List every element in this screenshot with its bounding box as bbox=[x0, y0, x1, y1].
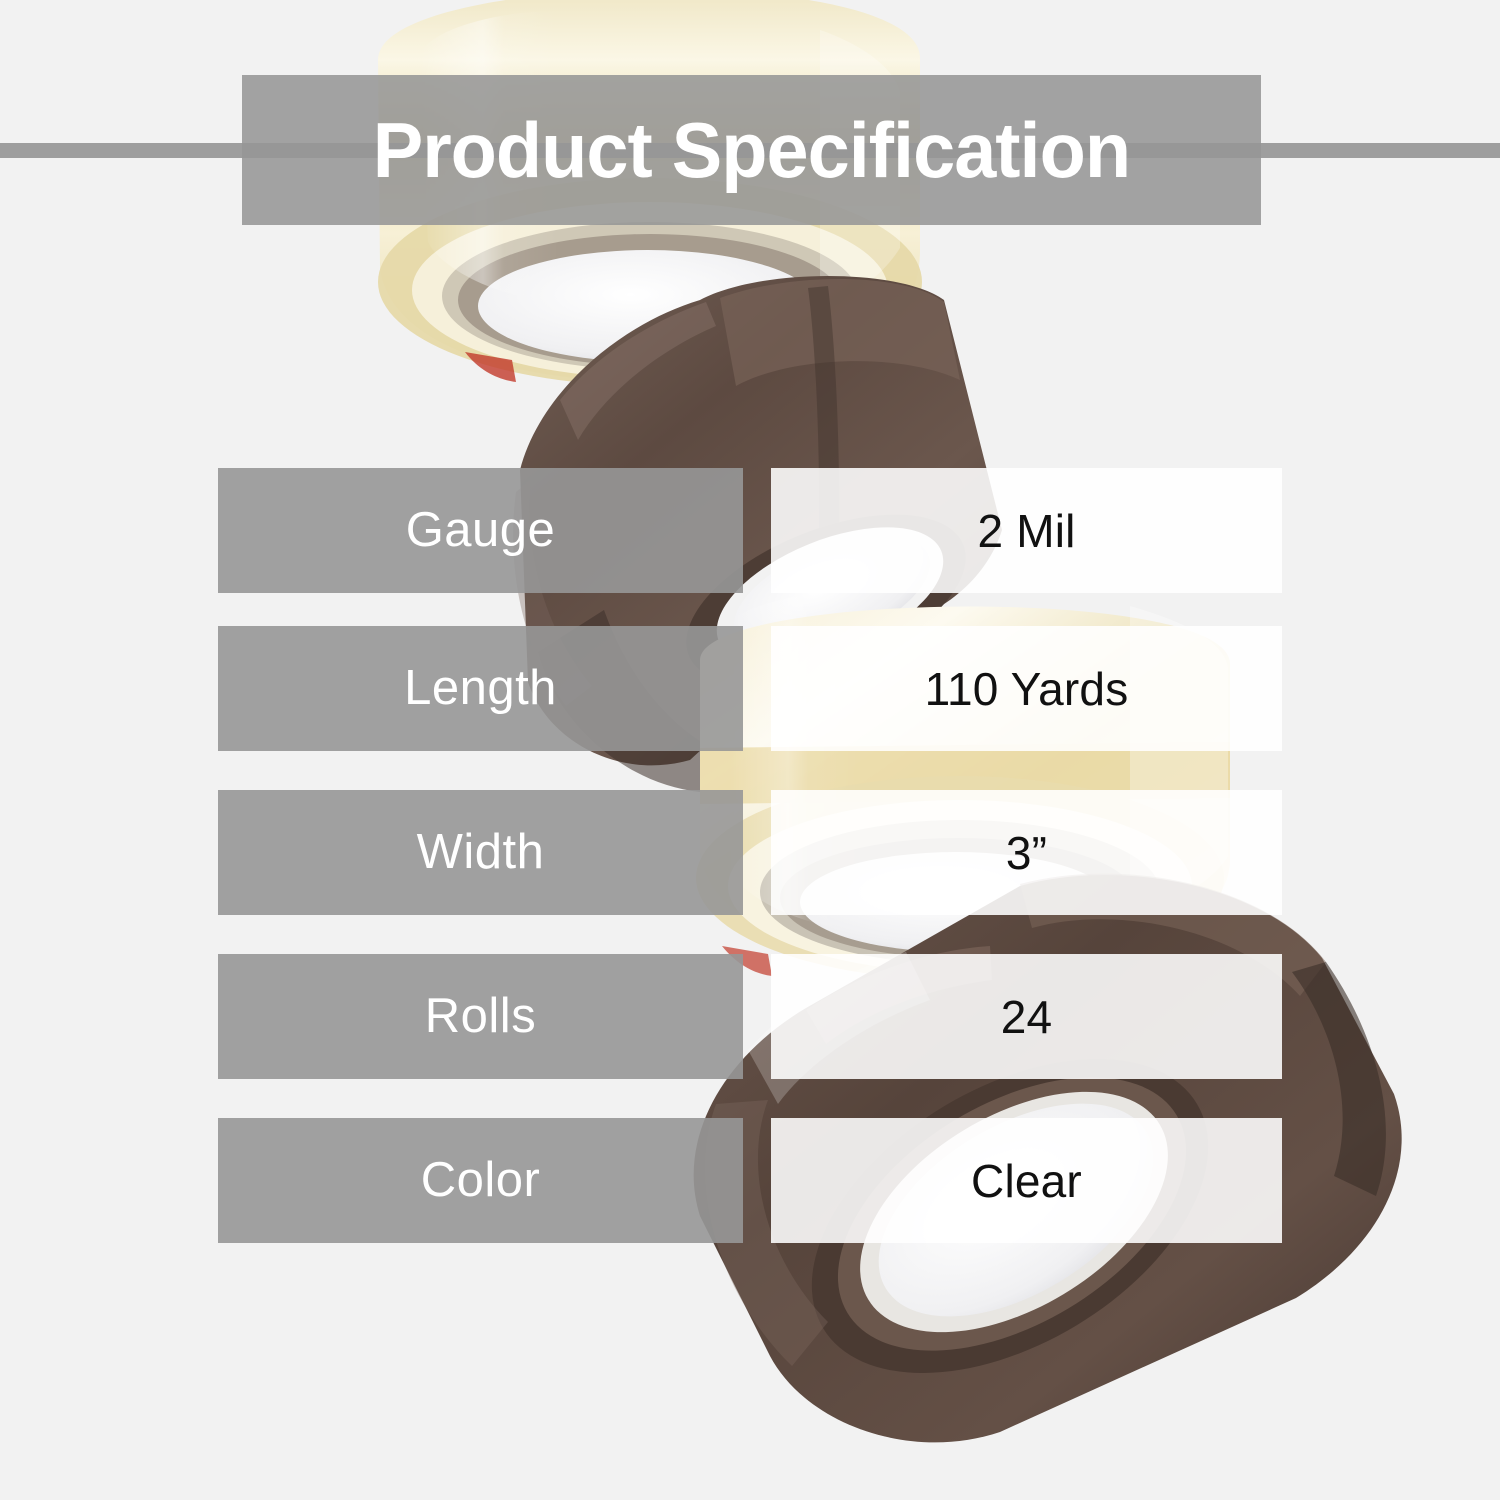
table-row: Rolls 24 bbox=[0, 954, 1500, 1079]
spec-label-text: Length bbox=[404, 664, 557, 713]
spec-label-cell-length: Length bbox=[218, 626, 743, 751]
spec-label-cell-width: Width bbox=[218, 790, 743, 915]
spec-value-text: 24 bbox=[1001, 994, 1053, 1040]
table-row: Gauge 2 Mil bbox=[0, 468, 1500, 593]
spec-value-cell-width: 3” bbox=[771, 790, 1282, 915]
spec-value-text: 110 Yards bbox=[925, 666, 1129, 712]
spec-value-text: 2 Mil bbox=[977, 508, 1075, 554]
spec-label-text: Width bbox=[417, 828, 545, 877]
spec-label-text: Color bbox=[421, 1156, 541, 1205]
spec-value-cell-length: 110 Yards bbox=[771, 626, 1282, 751]
table-row: Color Clear bbox=[0, 1118, 1500, 1243]
spec-label-text: Rolls bbox=[425, 992, 536, 1041]
specification-table: Gauge 2 Mil Length 110 Yards Width 3” bbox=[0, 0, 1500, 1500]
spec-label-cell-gauge: Gauge bbox=[218, 468, 743, 593]
spec-value-cell-color: Clear bbox=[771, 1118, 1282, 1243]
spec-value-cell-gauge: 2 Mil bbox=[771, 468, 1282, 593]
infographic-canvas: Product Specification Gauge 2 Mil Length… bbox=[0, 0, 1500, 1500]
spec-value-cell-rolls: 24 bbox=[771, 954, 1282, 1079]
table-row: Length 110 Yards bbox=[0, 626, 1500, 751]
spec-label-cell-rolls: Rolls bbox=[218, 954, 743, 1079]
spec-label-cell-color: Color bbox=[218, 1118, 743, 1243]
spec-value-text: Clear bbox=[971, 1158, 1082, 1204]
spec-value-text: 3” bbox=[1006, 830, 1047, 876]
spec-label-text: Gauge bbox=[406, 506, 556, 555]
table-row: Width 3” bbox=[0, 790, 1500, 915]
